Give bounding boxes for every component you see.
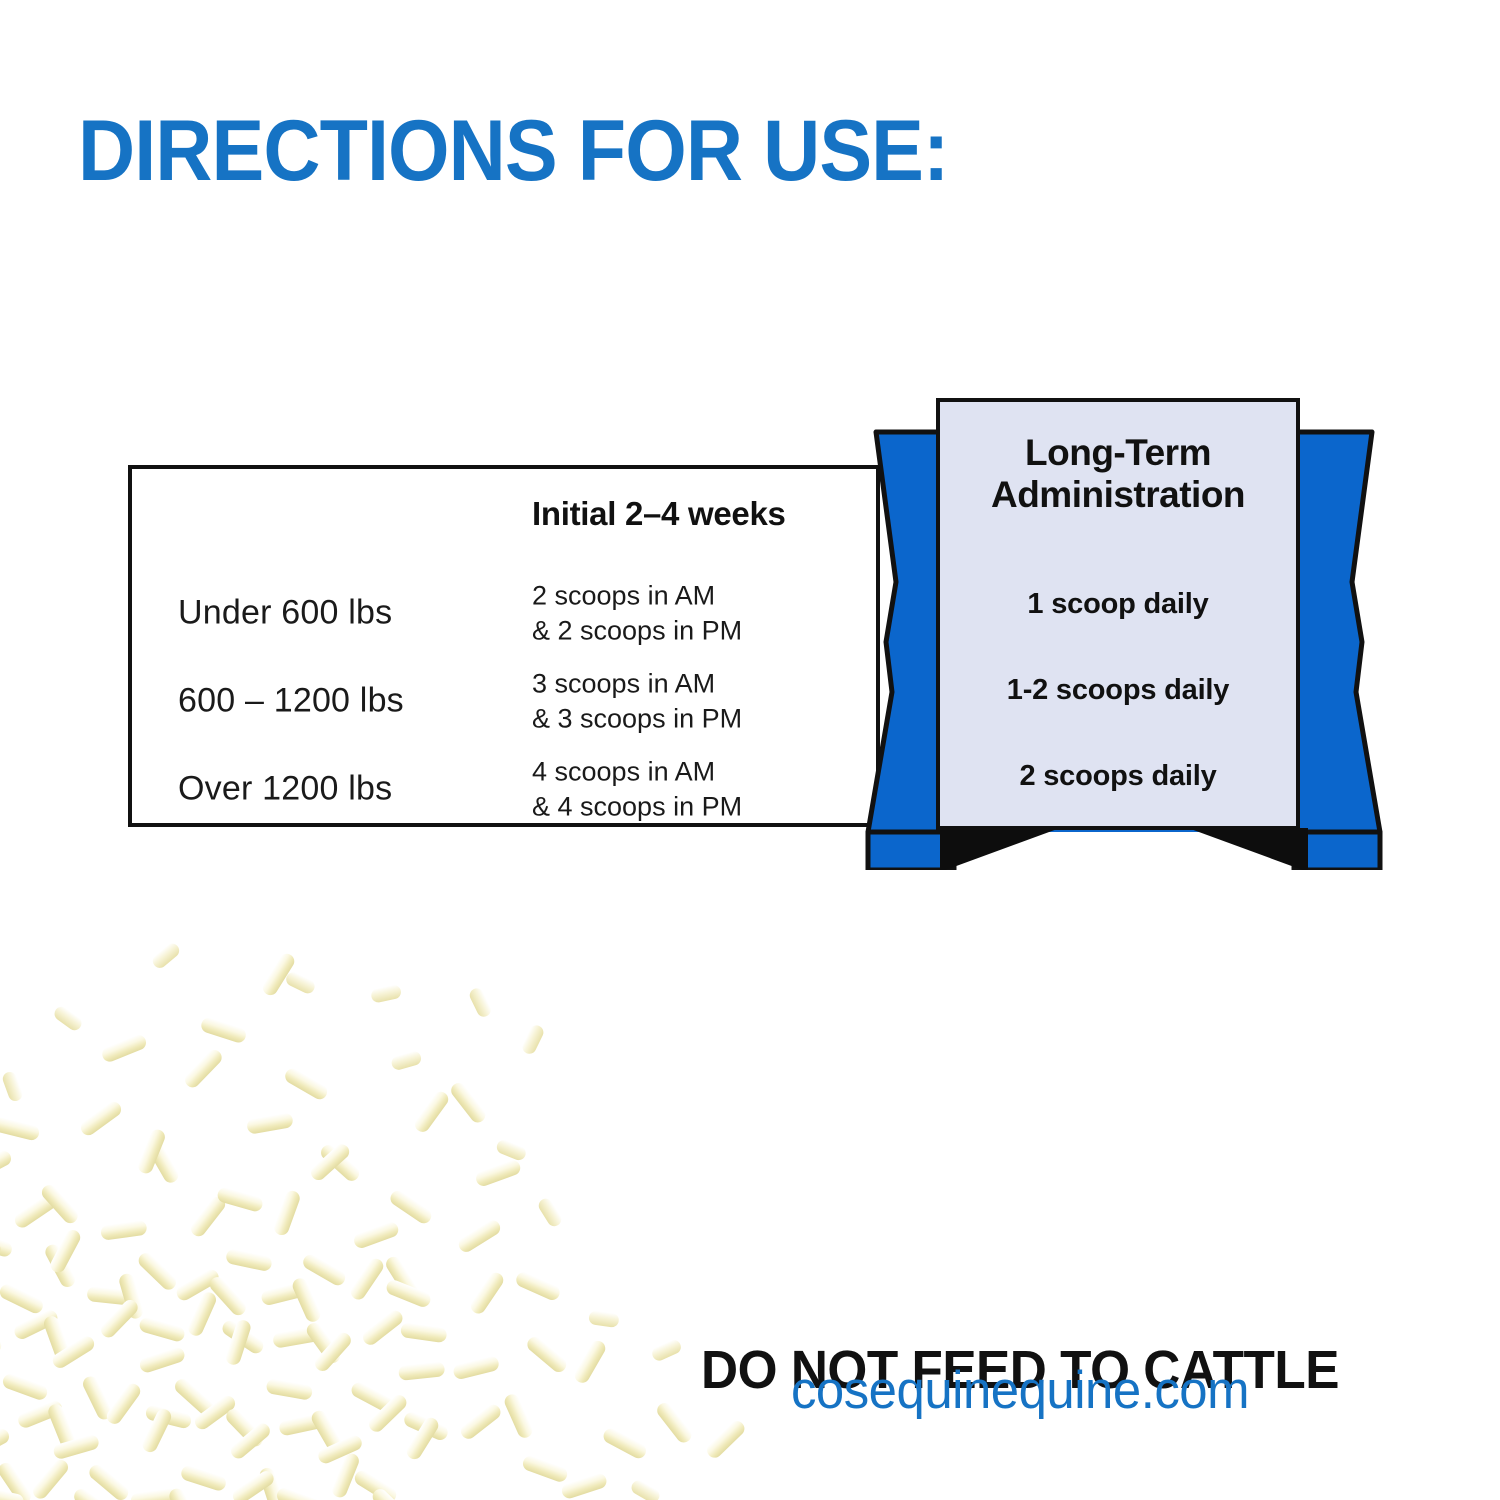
weight-label: 600 – 1200 lbs (178, 682, 404, 721)
pellet-cluster-scattered (0, 941, 748, 1500)
ribbon-right-wing (1294, 432, 1380, 832)
table-row: Under 600 lbs 2 scoops in AM & 2 scoops … (128, 569, 880, 657)
initial-dose-am: 4 scoops in AM (532, 754, 742, 789)
initial-dose: 3 scoops in AM & 3 scoops in PM (532, 666, 742, 735)
long-term-dose: 2 scoops daily (940, 760, 1296, 793)
pellet-cluster-dense (0, 1189, 450, 1500)
initial-dose-pm: & 2 scoops in PM (532, 613, 742, 648)
initial-period-header: Initial 2–4 weeks (532, 495, 786, 533)
weight-label: Over 1200 lbs (178, 770, 392, 809)
long-term-administration-card: Long-Term Administration 1 scoop daily 1… (936, 398, 1300, 830)
initial-dose-pm: & 4 scoops in PM (532, 789, 742, 824)
initial-dose-am: 2 scoops in AM (532, 578, 742, 613)
ribbon-title: Long-Term Administration (940, 432, 1296, 516)
long-term-dose: 1 scoop daily (940, 588, 1296, 621)
table-row: Over 1200 lbs 4 scoops in AM & 4 scoops … (128, 745, 880, 833)
ribbon-title-line-2: Administration (940, 474, 1296, 516)
initial-dose-am: 3 scoops in AM (532, 666, 742, 701)
initial-dose: 4 scoops in AM & 4 scoops in PM (532, 754, 742, 823)
table-row: 600 – 1200 lbs 3 scoops in AM & 3 scoops… (128, 657, 880, 745)
initial-dose: 2 scoops in AM & 2 scoops in PM (532, 578, 742, 647)
directions-for-use-panel: DIRECTIONS FOR USE: Initial 2–4 weeks Un… (0, 0, 1500, 1500)
weight-label: Under 600 lbs (178, 594, 392, 633)
ribbon-right-shadow (1188, 828, 1308, 870)
ribbon-title-line-1: Long-Term (940, 432, 1296, 474)
ribbon-left-shadow (940, 828, 1060, 870)
page-title: DIRECTIONS FOR USE: (78, 108, 948, 194)
website-link[interactable]: cosequinequine.com (655, 1360, 1385, 1421)
initial-dose-pm: & 3 scoops in PM (532, 701, 742, 736)
dosing-table: Initial 2–4 weeks Under 600 lbs 2 scoops… (128, 465, 880, 827)
long-term-dose: 1-2 scoops daily (940, 674, 1296, 707)
